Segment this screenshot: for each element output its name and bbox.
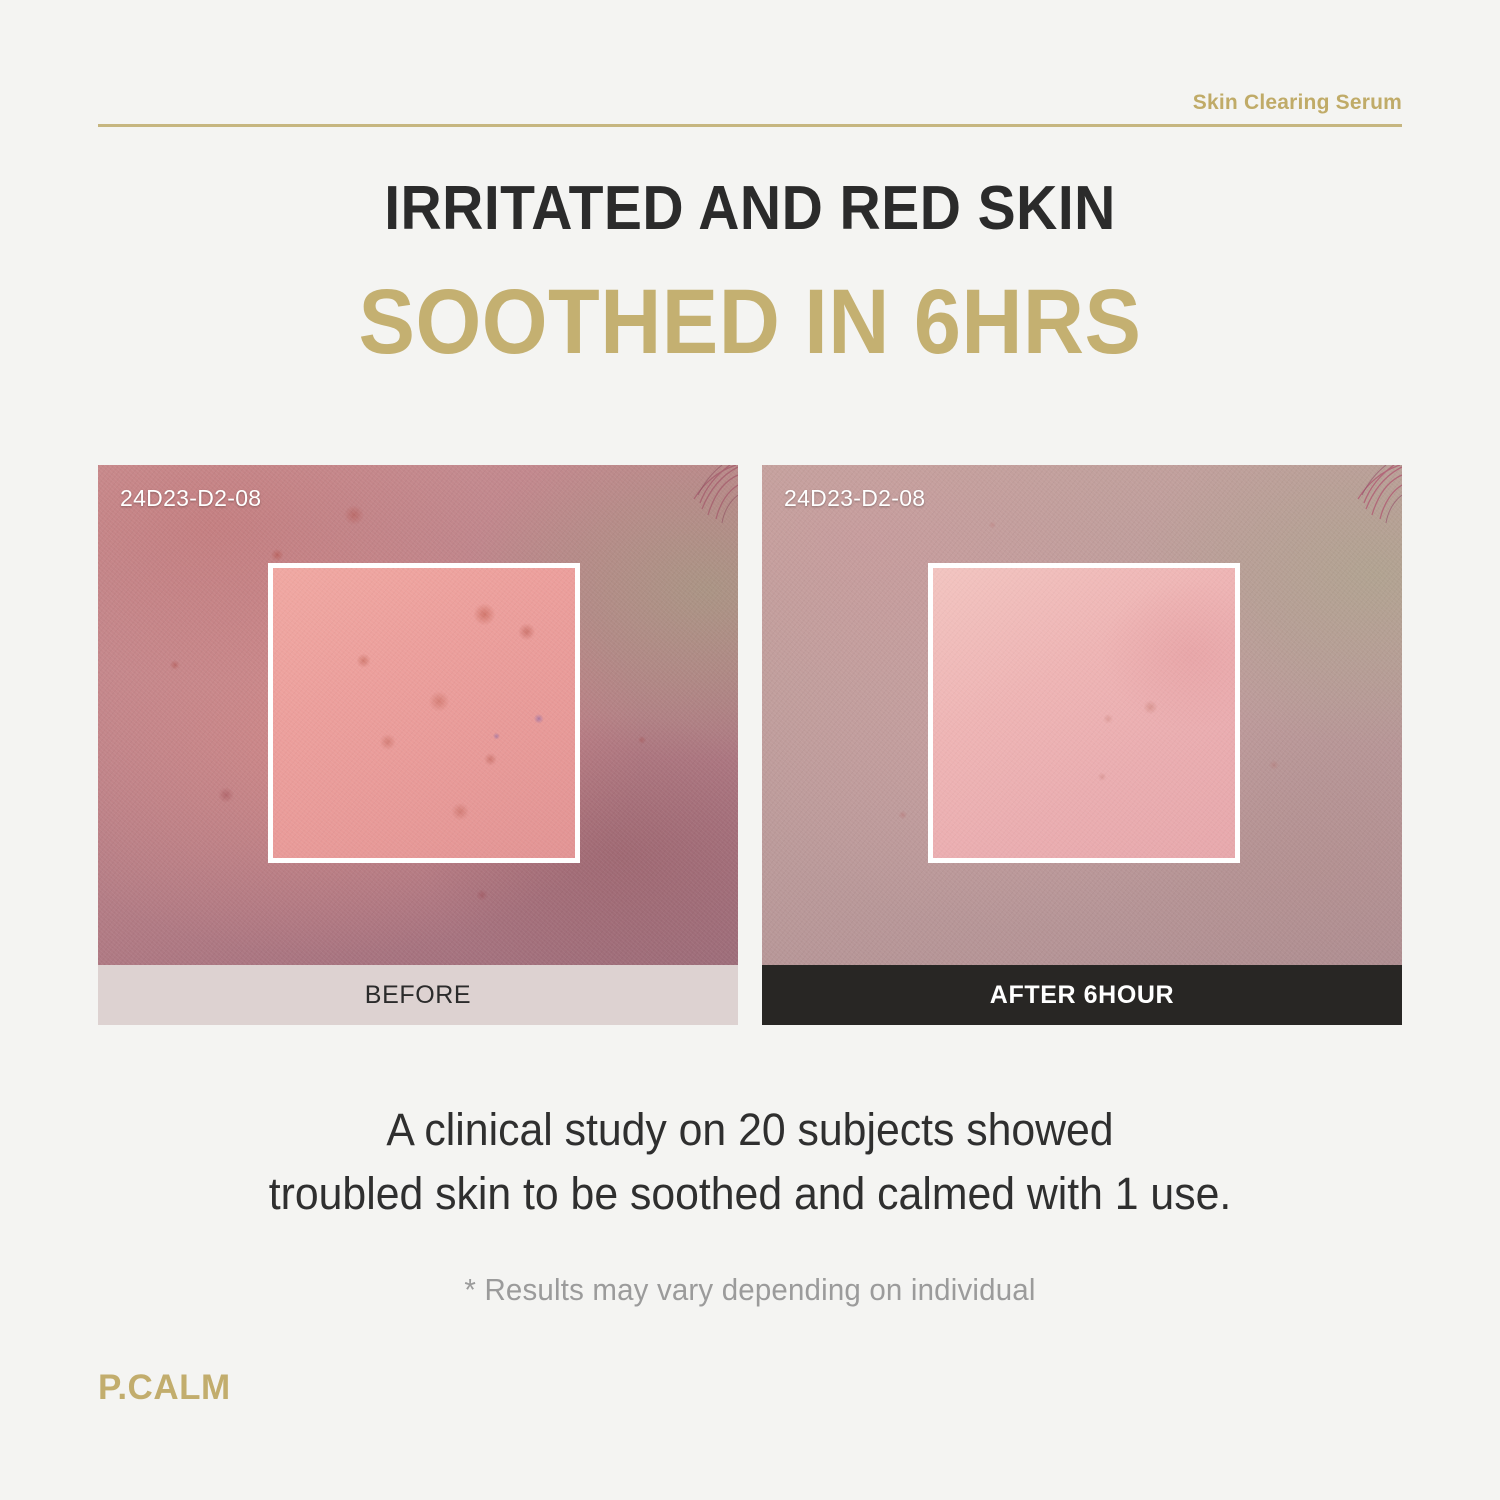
caption-text-after: AFTER 6HOUR — [990, 981, 1174, 1010]
hair-strands-icon — [1282, 465, 1402, 560]
comparison-panel-after: 24D23-D2-08 AFTER 6HOUR — [762, 465, 1402, 1025]
zoom-inset-texture — [933, 568, 1235, 858]
comparison-panel-before: 24D23-D2-08 BEFORE — [98, 465, 738, 1025]
brand-logo: P.CALM — [98, 1368, 231, 1408]
disclaimer-text: * Results may vary depending on individu… — [38, 1272, 1463, 1308]
headline-primary: IRRITATED AND RED SKIN — [60, 178, 1440, 240]
caption-bar-before: BEFORE — [98, 965, 738, 1025]
zoom-inset-texture — [273, 568, 575, 858]
headline-block: IRRITATED AND RED SKIN SOOTHED IN 6HRS — [0, 178, 1500, 368]
zoom-inset-after — [928, 563, 1240, 863]
study-description-line-2: troubled skin to be soothed and calmed w… — [38, 1162, 1463, 1226]
page-header: Skin Clearing Serum — [98, 92, 1402, 127]
zoom-inset-before — [268, 563, 580, 863]
study-description: A clinical study on 20 subjects showed t… — [38, 1098, 1463, 1226]
caption-text-before: BEFORE — [365, 981, 471, 1010]
subject-id-label-before: 24D23-D2-08 — [120, 485, 261, 512]
product-name-label: Skin Clearing Serum — [98, 92, 1402, 124]
header-divider — [98, 124, 1402, 127]
headline-secondary: SOOTHED IN 6HRS — [60, 276, 1440, 368]
study-description-line-1: A clinical study on 20 subjects showed — [38, 1098, 1463, 1162]
caption-bar-after: AFTER 6HOUR — [762, 965, 1402, 1025]
subject-id-label-after: 24D23-D2-08 — [784, 485, 925, 512]
hair-strands-icon — [618, 465, 738, 560]
before-after-comparison: 24D23-D2-08 BEFORE — [98, 465, 1402, 1025]
